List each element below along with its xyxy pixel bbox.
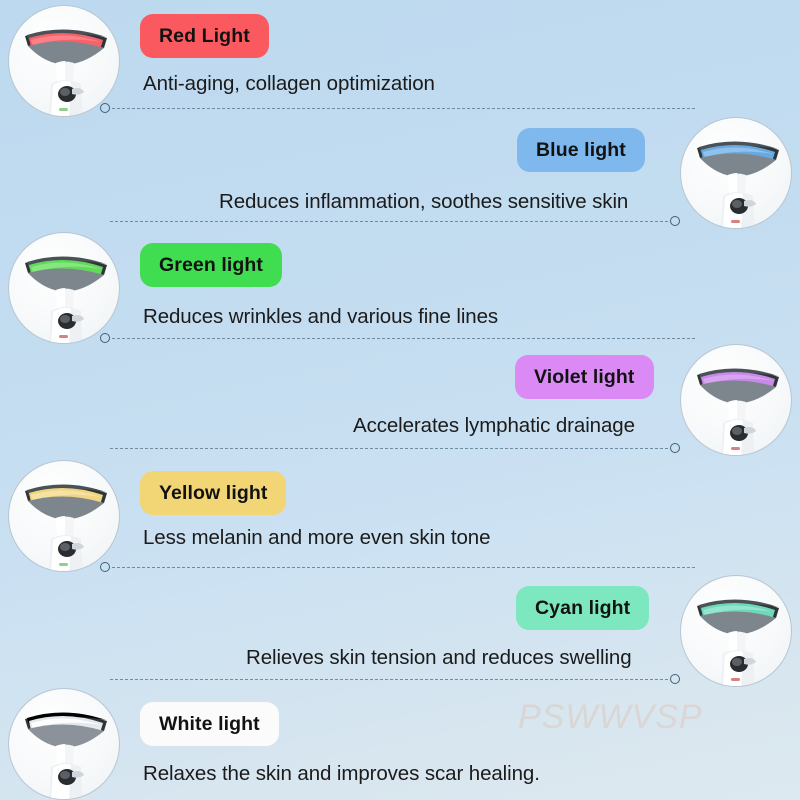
device-photo-yellow: [8, 460, 120, 572]
connector-blue: [110, 216, 680, 228]
badge-label: White light: [159, 713, 260, 736]
badge-label: Violet light: [534, 366, 635, 389]
device-photo-green: [8, 232, 120, 344]
description-yellow-light: Less melanin and more even skin tone: [143, 526, 490, 550]
device-photo-cyan: [680, 575, 792, 687]
device-illustration-yellow: [9, 461, 120, 572]
badge-white-light[interactable]: White light: [140, 702, 279, 746]
device-photo-blue: [680, 117, 792, 229]
description-red-light: Anti-aging, collagen optimization: [143, 72, 435, 96]
device-illustration-violet: [681, 345, 792, 456]
connector-yellow: [100, 562, 695, 574]
device-photo-violet: [680, 344, 792, 456]
connector-dot: [100, 562, 110, 572]
connector-dot: [670, 674, 680, 684]
description-green-light: Reduces wrinkles and various fine lines: [143, 305, 498, 329]
connector-line: [112, 338, 695, 339]
description-white-light: Relaxes the skin and improves scar heali…: [143, 762, 540, 786]
connector-line: [110, 448, 668, 449]
badge-violet-light[interactable]: Violet light: [515, 355, 654, 399]
badge-red-light[interactable]: Red Light: [140, 14, 269, 58]
connector-dot: [670, 216, 680, 226]
device-illustration-blue: [681, 118, 792, 229]
watermark-text: PSWWVSP: [518, 698, 703, 737]
badge-label: Cyan light: [535, 597, 630, 620]
connector-line: [112, 108, 695, 109]
device-photo-red: [8, 5, 120, 117]
description-cyan-light: Relieves skin tension and reduces swelli…: [246, 646, 632, 670]
connector-green: [100, 333, 695, 345]
connector-dot: [100, 333, 110, 343]
device-illustration-white: [9, 689, 120, 800]
badge-blue-light[interactable]: Blue light: [517, 128, 645, 172]
connector-violet: [110, 443, 680, 455]
device-illustration-red: [9, 6, 120, 117]
description-violet-light: Accelerates lymphatic drainage: [353, 414, 635, 438]
badge-green-light[interactable]: Green light: [140, 243, 282, 287]
badge-label: Blue light: [536, 139, 626, 162]
badge-yellow-light[interactable]: Yellow light: [140, 471, 286, 515]
connector-line: [110, 221, 668, 222]
badge-label: Red Light: [159, 25, 250, 48]
badge-label: Green light: [159, 254, 263, 277]
badge-label: Yellow light: [159, 482, 267, 505]
description-blue-light: Reduces inflammation, soothes sensitive …: [219, 190, 628, 214]
connector-line: [110, 679, 668, 680]
connector-cyan: [110, 674, 680, 686]
connector-dot: [670, 443, 680, 453]
connector-dot: [100, 103, 110, 113]
device-illustration-cyan: [681, 576, 792, 687]
device-photo-white: [8, 688, 120, 800]
device-illustration-green: [9, 233, 120, 344]
connector-line: [112, 567, 695, 568]
badge-cyan-light[interactable]: Cyan light: [516, 586, 649, 630]
connector-red: [100, 103, 695, 115]
